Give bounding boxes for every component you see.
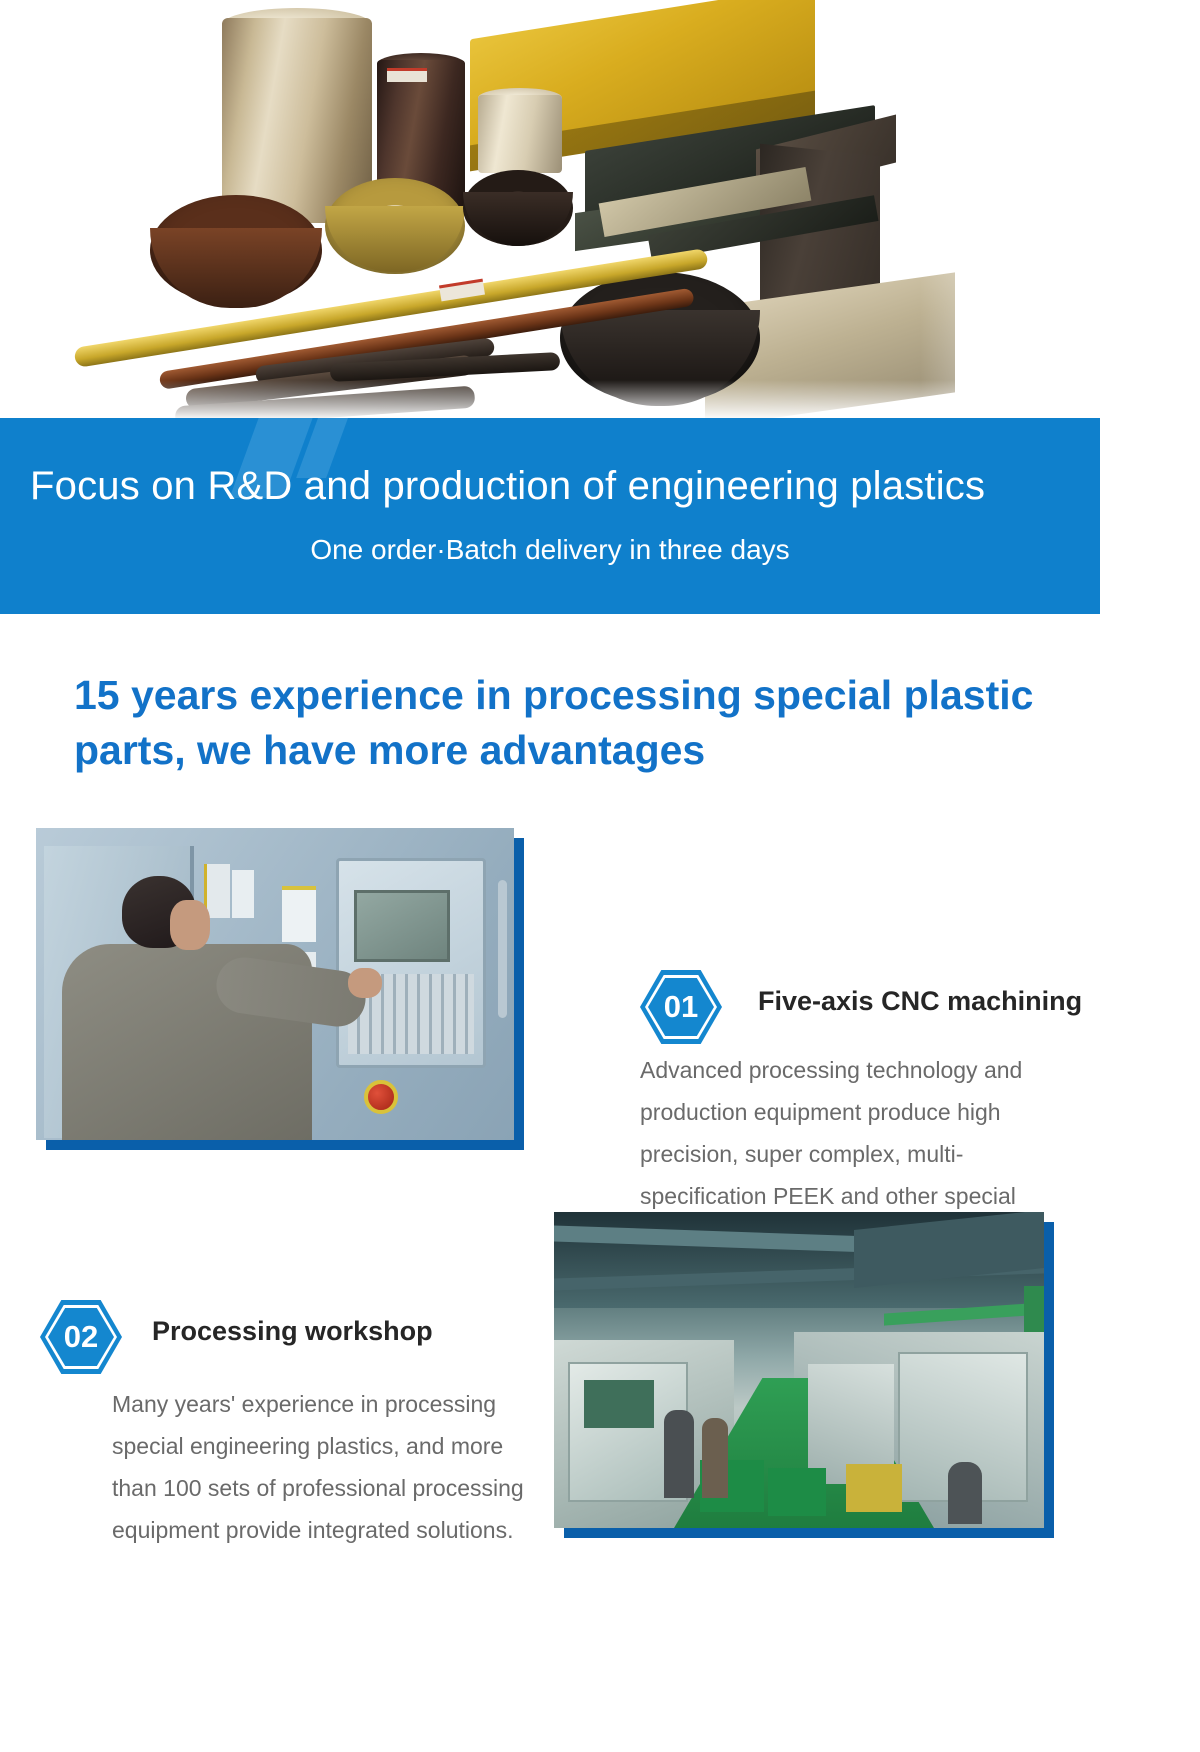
feature-2-body: Many years' experience in processing spe… xyxy=(112,1384,532,1551)
workshop-cart-3 xyxy=(846,1464,902,1512)
workshop-worker-2 xyxy=(702,1418,728,1498)
section-heading: 15 years experience in processing specia… xyxy=(74,668,1064,777)
operator-face xyxy=(170,900,210,950)
emergency-stop-button xyxy=(364,1080,398,1114)
feature-2-title: Processing workshop xyxy=(152,1316,433,1347)
banner-headline: Focus on R&D and production of engineeri… xyxy=(30,464,985,509)
hero-bottom-fade xyxy=(0,380,1100,420)
product-label-sticker xyxy=(387,68,427,82)
feature-1-title: Five-axis CNC machining xyxy=(758,986,1082,1017)
feature-2-number: 02 xyxy=(40,1300,122,1374)
hero-product-photo xyxy=(0,0,1100,420)
product-gold-ring-body xyxy=(325,206,465,272)
workshop-worker-1 xyxy=(664,1410,694,1498)
feature-2-text-block: 02 Processing workshop Many years' exper… xyxy=(112,1300,532,1551)
product-brown-ring-body xyxy=(150,228,322,308)
feature-1-header: 01 Five-axis CNC machining xyxy=(640,970,1072,1034)
hero-right-fade xyxy=(920,0,1100,420)
feature-1-number-badge: 01 xyxy=(640,970,722,1044)
machine-screen xyxy=(354,890,450,962)
workshop-cart-2 xyxy=(768,1468,826,1516)
tagline-banner: Focus on R&D and production of engineeri… xyxy=(0,418,1100,614)
product-cream-cylinder xyxy=(478,95,562,173)
feature-2-number-badge: 02 xyxy=(40,1300,122,1374)
feature-2-photo xyxy=(554,1212,1044,1528)
machine-warning-label-2 xyxy=(232,870,254,918)
feature-1-number: 01 xyxy=(640,970,722,1044)
machine-door-handle xyxy=(498,880,507,1018)
workshop-machine-1-window xyxy=(584,1380,654,1428)
workshop-worker-3 xyxy=(948,1462,982,1524)
product-dark-ring-body xyxy=(463,192,573,246)
banner-subheadline: One order·Batch delivery in three days xyxy=(0,534,1100,566)
operator-hand xyxy=(348,968,382,998)
feature-1-photo xyxy=(36,828,514,1140)
machine-warning-label-3 xyxy=(282,886,316,942)
feature-2-header: 02 Processing workshop xyxy=(112,1300,532,1364)
